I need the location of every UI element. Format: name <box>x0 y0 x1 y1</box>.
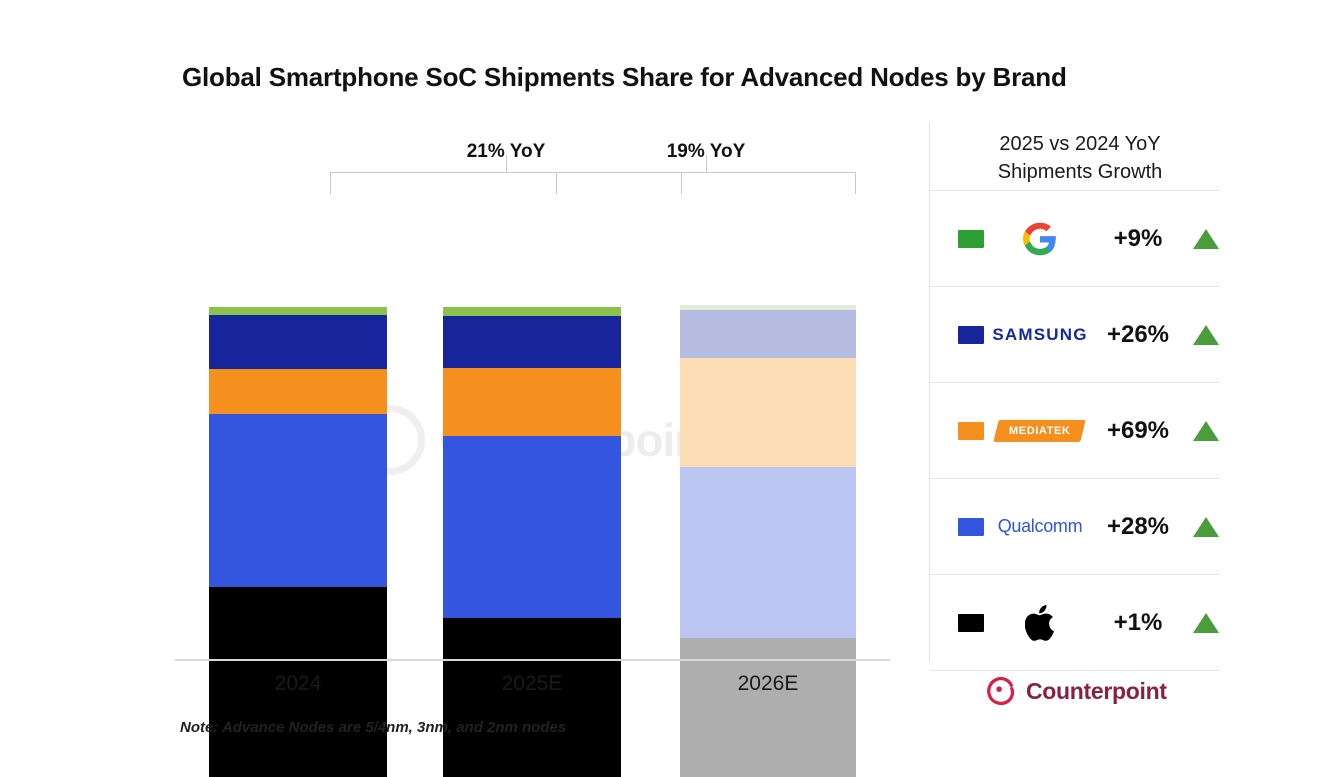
bar-segment-samsung-2026e[interactable] <box>680 310 856 358</box>
legend-row-google[interactable]: +9% <box>930 190 1220 286</box>
trend-up-icon-google <box>1180 229 1232 249</box>
bar-segment-qualcomm-2026e[interactable] <box>680 467 856 638</box>
bar-segment-apple-2025e[interactable] <box>443 618 621 777</box>
legend-swatch-apple <box>958 614 984 632</box>
bar-segment-google-2024[interactable] <box>209 307 387 315</box>
bar-segment-samsung-2025e[interactable] <box>443 316 621 368</box>
bar-segment-google-2025e[interactable] <box>443 307 621 316</box>
google-logo <box>984 222 1096 256</box>
bar-segment-mediatek-2025e[interactable] <box>443 368 621 436</box>
legend-row-mediatek[interactable]: MEDIATEK +69% <box>930 382 1220 478</box>
trend-up-icon-apple <box>1180 613 1232 633</box>
legend-title-line2: Shipments Growth <box>930 158 1230 186</box>
counterpoint-logo: Counterpoint <box>986 676 1167 706</box>
legend-growth-mediatek: +69% <box>1096 417 1180 445</box>
legend-title: 2025 vs 2024 YoY Shipments Growth <box>930 130 1230 186</box>
bar-segment-qualcomm-2025e[interactable] <box>443 436 621 618</box>
samsung-logo: SAMSUNG <box>984 325 1096 345</box>
legend-growth-apple: +1% <box>1096 609 1180 637</box>
mediatek-wordmark: MEDIATEK <box>1009 425 1070 437</box>
legend-title-line1: 2025 vs 2024 YoY <box>930 130 1230 158</box>
qualcomm-logo: Qualcomm <box>984 516 1096 537</box>
legend-swatch-google <box>958 230 984 248</box>
legend-rows: +9% SAMSUNG +26% MEDIATEK +69% <box>930 190 1220 671</box>
x-axis-line <box>175 659 890 661</box>
apple-logo <box>984 605 1096 641</box>
legend-row-samsung[interactable]: SAMSUNG +26% <box>930 286 1220 382</box>
x-axis-label-2026e: 2026E <box>680 672 856 696</box>
legend-row-qualcomm[interactable]: Qualcomm +28% <box>930 478 1220 574</box>
x-axis-label-2024: 2024 <box>209 672 387 696</box>
trend-up-icon-samsung <box>1180 325 1232 345</box>
legend-panel: 2025 vs 2024 YoY Shipments Growth +9% <box>930 122 1325 682</box>
bar-segment-samsung-2024[interactable] <box>209 315 387 369</box>
chart-footnote: Note: Advance Nodes are 5/4nm, 3nm, and … <box>180 719 566 736</box>
qualcomm-wordmark: Qualcomm <box>998 516 1083 537</box>
trend-up-icon-qualcomm <box>1180 517 1232 537</box>
legend-growth-qualcomm: +28% <box>1096 513 1180 541</box>
trend-up-icon-mediatek <box>1180 421 1232 441</box>
samsung-wordmark: SAMSUNG <box>992 325 1087 345</box>
bar-2024[interactable] <box>209 307 387 777</box>
legend-swatch-mediatek <box>958 422 984 440</box>
bar-segment-qualcomm-2024[interactable] <box>209 414 387 587</box>
counterpoint-wordmark: Counterpoint <box>1026 678 1167 705</box>
legend-swatch-samsung <box>958 326 984 344</box>
mediatek-logo: MEDIATEK <box>984 420 1096 442</box>
bar-2025e[interactable] <box>443 307 621 777</box>
legend-growth-samsung: +26% <box>1096 321 1180 349</box>
counterpoint-mark-icon <box>986 676 1016 706</box>
x-axis-label-2025e: 2025E <box>443 672 621 696</box>
legend-growth-google: +9% <box>1096 225 1180 253</box>
legend-row-apple[interactable]: +1% <box>930 574 1220 671</box>
yoy-label-2025e-2026e: 19% YoY <box>556 141 856 163</box>
chart-plot-area: Counterpoint 2024 2025E <box>0 0 930 777</box>
bar-segment-mediatek-2026e[interactable] <box>680 358 856 467</box>
bar-segment-mediatek-2024[interactable] <box>209 369 387 414</box>
bar-2026e[interactable] <box>680 305 856 777</box>
legend-swatch-qualcomm <box>958 518 984 536</box>
